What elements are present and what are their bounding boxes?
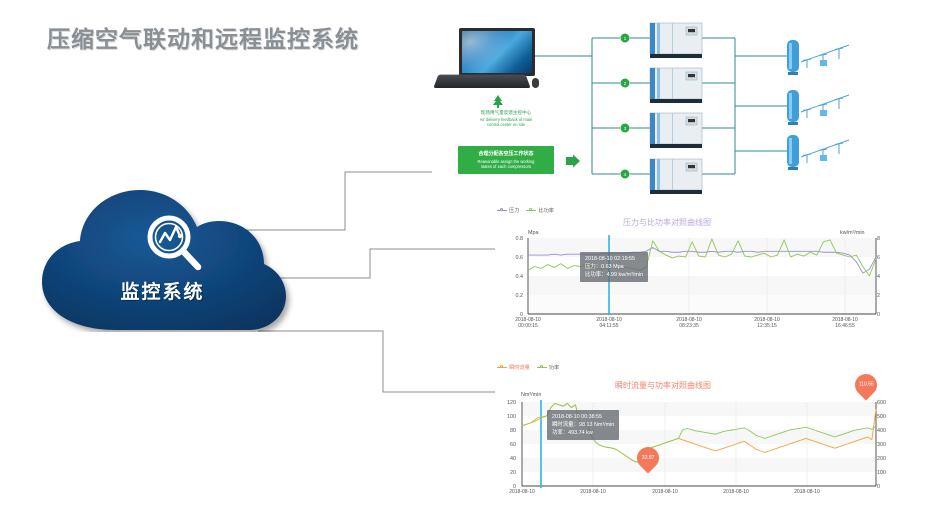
- pressure-power-chart[interactable]: 压力 比功率 压力与比功率对照曲线图 Mpa kw/m³/min 0.8 0.6…: [495, 205, 895, 335]
- air-tank-assemblies: [787, 40, 849, 170]
- chart2-tooltip-line1: 瞬时流量：98.13 Nm³/min: [552, 421, 614, 429]
- topology-wiring: 1 2 3 4: [432, 18, 937, 203]
- chart1-xtick-2-time: 08:23:35: [659, 323, 719, 329]
- chart2-xtick-3: 2018-08-10: [706, 489, 766, 495]
- chart2-marker-min-value: 33.87: [642, 455, 655, 461]
- chart1-xtick-4-time: 16:46:55: [815, 323, 875, 329]
- chart2-marker-max-value: 110.55: [859, 382, 874, 388]
- chart1-tooltip-line2: 比功率：4.99 kw/m³/min: [585, 271, 643, 279]
- system-topology-diagram: 现场用气量反馈主控中心 Air delivery feedback of mai…: [432, 18, 937, 203]
- chart1-tooltip: 2018-08-10 02:19:55 压力：0.63 Mpa 比功率：4.99…: [580, 252, 648, 282]
- chart1-xtick-0: 2018-08-10 00:00:15: [498, 317, 558, 329]
- chart2-xtick-2: 2018-08-10: [635, 489, 695, 495]
- chart2-xtick-0: 2018-08-10: [492, 489, 552, 495]
- monitoring-cloud[interactable]: 监控系统: [30, 182, 295, 332]
- chart1-xtick-1-time: 04:11:55: [579, 323, 639, 329]
- chart1-plot[interactable]: [495, 205, 895, 335]
- flow-power-chart[interactable]: 瞬时流量 功率 瞬时流量与功率对照曲线图 Nm³/min 120 100 80 …: [495, 362, 895, 522]
- compressor-units: [650, 23, 702, 194]
- chart1-xtick-4: 2018-08-10 16:46:55: [815, 317, 875, 329]
- chart1-tooltip-line1: 压力：0.63 Mpa: [585, 263, 643, 271]
- chart1-xtick-0-time: 00:00:15: [498, 323, 558, 329]
- chart1-xtick-2: 2018-08-10 08:23:35: [659, 317, 719, 329]
- chart2-plot[interactable]: [495, 362, 895, 522]
- magnifier-chart-icon: [140, 210, 210, 280]
- chart1-xtick-3-time: 12:35:15: [737, 323, 797, 329]
- chart1-xtick-1: 2018-08-10 04:11:55: [579, 317, 639, 329]
- chart2-xtick-4: 2018-08-10: [777, 489, 837, 495]
- slide-canvas: 压缩空气联动和远程监控系统: [0, 0, 945, 529]
- chart2-xtick-1: 2018-08-10: [563, 489, 623, 495]
- cloud-label: 监控系统: [30, 277, 295, 304]
- chart2-tooltip-line2: 功率：493.74 kw: [552, 429, 614, 437]
- chart2-tooltip-time: 2018-08-10 00:38:55: [552, 413, 614, 421]
- chart1-xtick-3: 2018-08-10 12:35:15: [737, 317, 797, 329]
- chart1-tooltip-time: 2018-08-10 02:19:55: [585, 255, 643, 263]
- status-node-group: 1 2 3 4: [621, 34, 630, 179]
- chart2-tooltip: 2018-08-10 00:38:55 瞬时流量：98.13 Nm³/min 功…: [547, 410, 619, 440]
